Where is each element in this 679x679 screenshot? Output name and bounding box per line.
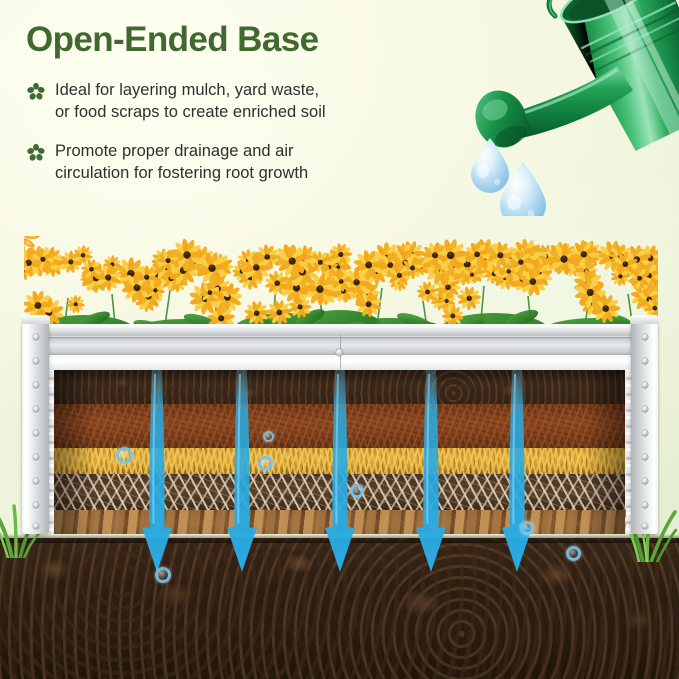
- post-rivet: [33, 334, 39, 340]
- post-rivet: [33, 502, 39, 508]
- list-item: Promote proper drainage and air circulat…: [26, 140, 456, 184]
- post-rivet: [33, 406, 39, 412]
- post-rivet: [642, 454, 648, 460]
- post-cap-right: [630, 315, 659, 324]
- feature-bullet-list: Ideal for layering mulch, yard waste, or…: [26, 79, 456, 184]
- drainage-arrow-4: [404, 370, 458, 572]
- post-cap-left: [21, 315, 50, 324]
- post-rivet: [33, 430, 39, 436]
- post-rivet: [642, 406, 648, 412]
- water-bubble-7: [263, 431, 274, 442]
- drainage-arrow-5: [490, 370, 544, 572]
- post-rivet: [642, 334, 648, 340]
- water-bubble-1: [116, 447, 133, 464]
- drainage-arrow-1: [130, 370, 184, 572]
- infographic-canvas: Open-Ended Base Ideal: [0, 0, 679, 679]
- post-rivet: [33, 523, 39, 529]
- post-rivet: [33, 478, 39, 484]
- water-bubble-5: [155, 567, 171, 583]
- post-rivet: [642, 358, 648, 364]
- center-rail-rivet: [336, 349, 343, 356]
- post-rivet: [33, 454, 39, 460]
- black-eyed-susan-flowers: [24, 236, 658, 338]
- bullet-text: Promote proper drainage and air circulat…: [55, 140, 308, 184]
- post-rivet: [642, 382, 648, 388]
- post-rivet: [33, 382, 39, 388]
- post-rivet: [642, 478, 648, 484]
- clover-flower-icon: [26, 82, 46, 102]
- post-rivet: [33, 358, 39, 364]
- page-title: Open-Ended Base: [26, 22, 456, 59]
- corner-post-right: [631, 322, 658, 534]
- drainage-arrow-2: [215, 370, 269, 572]
- clover-flower-icon: [26, 143, 46, 163]
- water-bubble-2: [258, 456, 273, 471]
- post-rivet: [642, 523, 648, 529]
- headline-block: Open-Ended Base Ideal: [26, 22, 456, 201]
- watering-can: [435, 0, 679, 216]
- water-bubble-4: [520, 521, 534, 535]
- bullet-text: Ideal for layering mulch, yard waste, or…: [55, 79, 326, 123]
- post-rivet: [642, 430, 648, 436]
- water-bubble-6: [566, 546, 581, 561]
- drainage-arrow-3: [313, 370, 367, 572]
- list-item: Ideal for layering mulch, yard waste, or…: [26, 79, 456, 123]
- corner-post-left: [22, 322, 49, 534]
- water-bubble-3: [350, 484, 364, 498]
- post-rivet: [642, 502, 648, 508]
